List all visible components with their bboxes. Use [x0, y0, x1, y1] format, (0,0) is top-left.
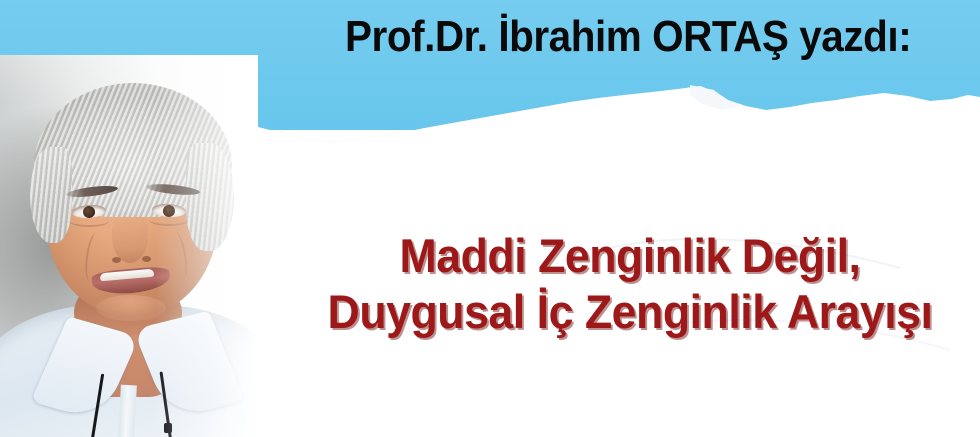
lanyard-clip	[164, 423, 172, 433]
author-portrait	[0, 55, 258, 437]
eye-crease-right	[149, 214, 189, 226]
hair-side-right	[186, 143, 234, 251]
headline: Maddi Zenginlik Değil, Duygusal İç Zengi…	[317, 228, 944, 340]
headline-line-2: Duygusal İç Zenginlik Arayışı	[317, 284, 944, 340]
nostril-left	[112, 257, 121, 263]
eye-crease-left	[69, 215, 109, 227]
author-kicker: Prof.Dr. İbrahim ORTAŞ yazdı:	[345, 12, 842, 62]
headline-line-1: Maddi Zenginlik Değil,	[317, 228, 944, 284]
chin	[96, 295, 166, 321]
portrait-inner	[0, 55, 258, 437]
nose	[112, 211, 148, 263]
nostril-right	[142, 256, 151, 262]
article-header-banner: Prof.Dr. İbrahim ORTAŞ yazdı: Maddi Zeng…	[0, 0, 980, 437]
